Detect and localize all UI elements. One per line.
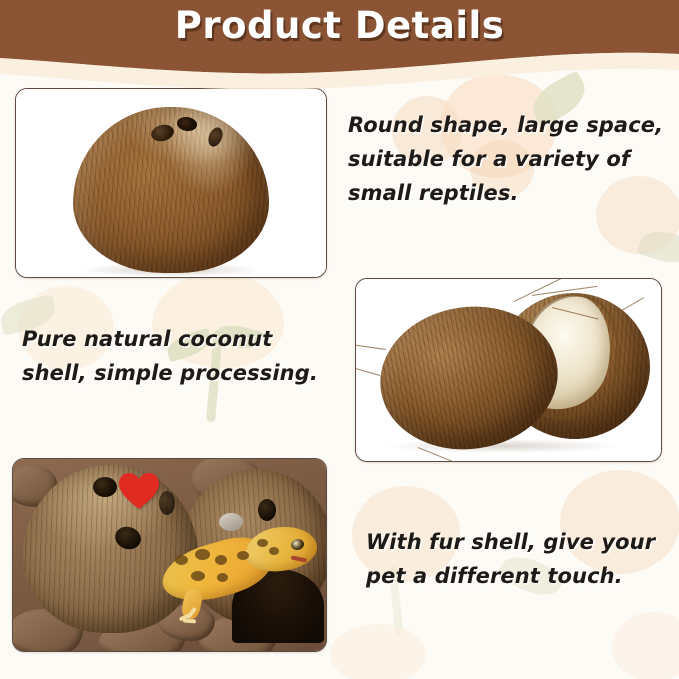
leaf-shape bbox=[637, 225, 679, 270]
gecko-spot bbox=[195, 549, 210, 560]
caption-round-shape: Round shape, large space, suitable for a… bbox=[348, 108, 668, 211]
gecko-spot bbox=[257, 539, 268, 547]
product-image-coconut-halves[interactable] bbox=[355, 278, 662, 462]
leopard-gecko bbox=[161, 515, 321, 625]
coconut-dome-photo bbox=[16, 89, 326, 277]
flower-blob bbox=[330, 624, 426, 679]
gecko-spot bbox=[175, 555, 188, 565]
header-banner: Product Details bbox=[0, 0, 679, 92]
heart-icon bbox=[117, 471, 161, 511]
coconut-halves-photo bbox=[356, 279, 661, 461]
product-image-coconut-dome[interactable] bbox=[15, 88, 327, 278]
gecko-spot bbox=[237, 551, 249, 560]
pebble bbox=[219, 513, 243, 531]
coconut-pore bbox=[159, 491, 175, 515]
gecko-spot bbox=[269, 547, 279, 555]
caption-fur-shell: With fur shell, give your pet a differen… bbox=[366, 525, 666, 593]
gecko-toe bbox=[183, 619, 196, 624]
caption-pure-natural: Pure natural coconut shell, simple proce… bbox=[22, 322, 342, 390]
product-image-gecko-habitat[interactable] bbox=[12, 458, 327, 652]
page-title: Product Details bbox=[0, 4, 679, 47]
gecko-spot bbox=[191, 571, 205, 581]
gecko-habitat-photo bbox=[13, 459, 326, 651]
coconut-pore bbox=[93, 477, 117, 497]
flower-blob bbox=[612, 612, 679, 679]
gecko-spot bbox=[217, 573, 228, 582]
product-details-page: Product Details Round shape, large space… bbox=[0, 0, 679, 679]
gecko-spot bbox=[215, 555, 227, 565]
